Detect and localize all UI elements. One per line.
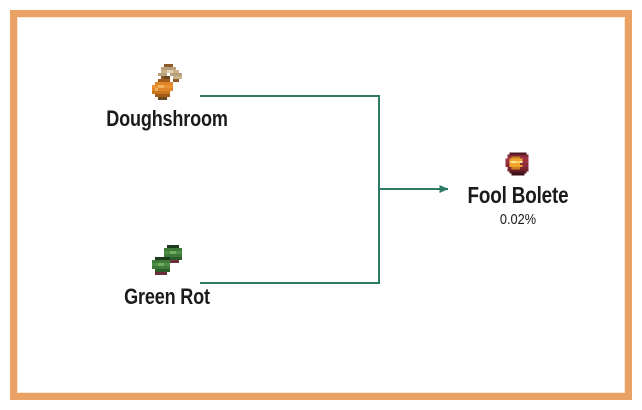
node-fool-bolete[interactable]: Fool Bolete 0.02% <box>428 148 608 229</box>
green-rot-icon <box>143 236 191 284</box>
node-green-rot-label: Green Rot <box>81 284 253 310</box>
node-green-rot[interactable]: Green Rot <box>62 236 272 310</box>
screenshot-root: Doughshroom Green Rot <box>0 0 642 410</box>
doughshroom-mushroom-icon <box>143 58 191 106</box>
fool-bolete-icon <box>501 148 535 182</box>
node-fool-bolete-label: Fool Bolete <box>444 182 592 209</box>
node-doughshroom[interactable]: Doughshroom <box>62 58 272 132</box>
node-doughshroom-label: Doughshroom <box>81 106 253 132</box>
node-fool-bolete-rate: 0.02% <box>442 210 595 229</box>
